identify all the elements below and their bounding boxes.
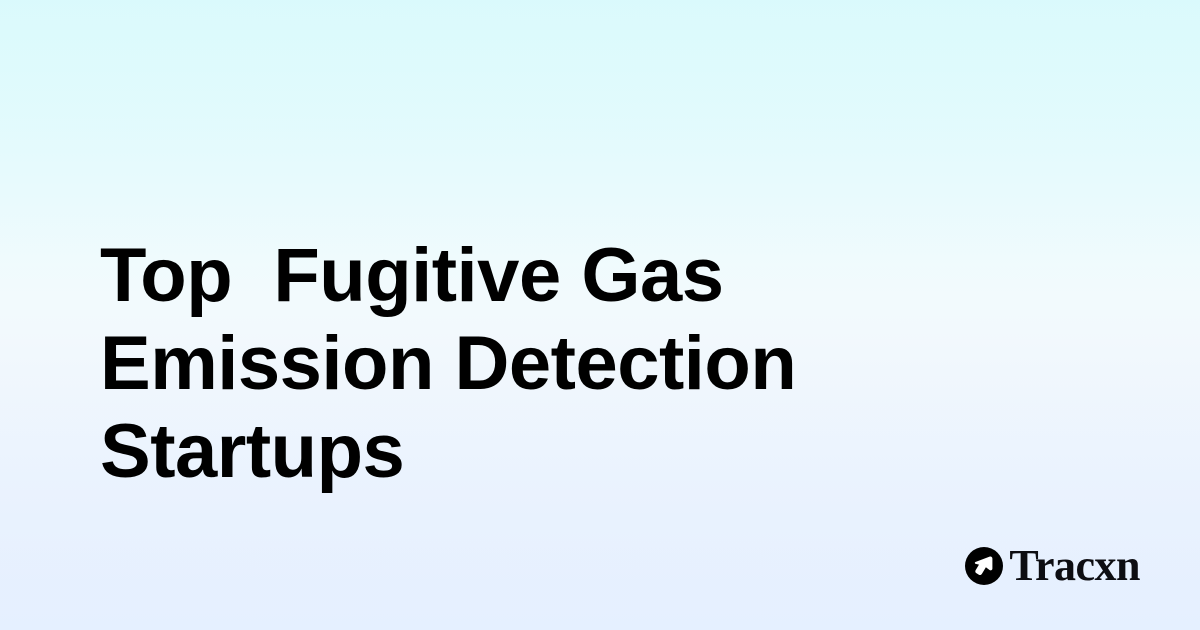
og-card: Top Fugitive Gas Emission Detection Star… xyxy=(0,0,1200,630)
tracxn-logo-mark-icon xyxy=(965,547,1003,585)
tracxn-logo[interactable]: Tracxn xyxy=(965,544,1140,588)
page-title-block: Top Fugitive Gas Emission Detection Star… xyxy=(100,232,1020,496)
tracxn-wordmark: Tracxn xyxy=(1009,544,1140,588)
page-title: Top Fugitive Gas Emission Detection Star… xyxy=(100,232,1020,496)
